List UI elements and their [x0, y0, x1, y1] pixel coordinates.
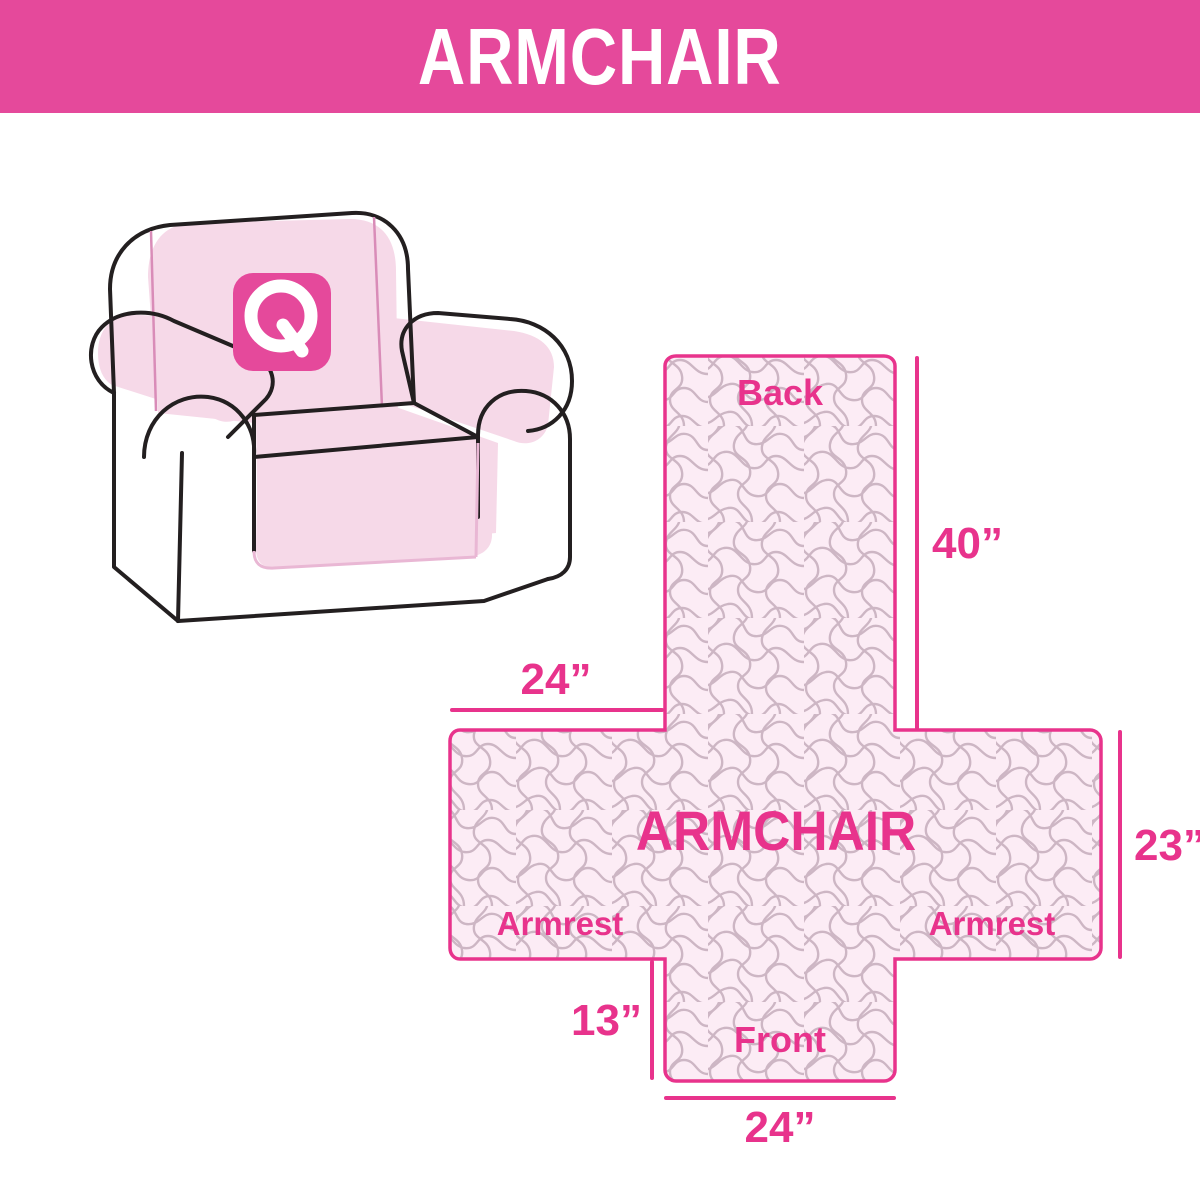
brand-badge: [233, 273, 331, 371]
product-dimension-page: ARMCHAIR: [0, 0, 1200, 1200]
dimension-armrest-height: 23”: [1120, 732, 1200, 957]
dimension-armrest-width: 24”: [452, 655, 662, 710]
chair-left-front-face: [178, 453, 182, 621]
dimension-front-height-label: 13”: [571, 996, 642, 1045]
dimension-back-height-label: 40”: [932, 519, 1003, 568]
dimension-front-width-label: 24”: [745, 1103, 816, 1152]
panel-label-armrest-left: Armrest: [497, 905, 624, 942]
dimension-armrest-width-label: 24”: [521, 655, 592, 704]
dimension-front-height: 13”: [571, 962, 652, 1078]
panel-label-back: Back: [737, 372, 824, 413]
dimension-front-width: 24”: [666, 1098, 894, 1152]
panel-label-front: Front: [734, 1019, 826, 1060]
dimension-back-height: 40”: [917, 358, 1003, 728]
cover-pattern-diagram: Back ARMCHAIR Armrest Armrest Front 40” …: [420, 330, 1200, 1160]
dimension-armrest-height-label: 23”: [1134, 821, 1200, 870]
chair-left-arm-outer-body: [114, 393, 178, 621]
cover-center-label: ARMCHAIR: [636, 800, 916, 862]
panel-label-armrest-right: Armrest: [929, 905, 1056, 942]
page-title: ARMCHAIR: [418, 17, 782, 97]
header-banner: ARMCHAIR: [0, 0, 1200, 113]
